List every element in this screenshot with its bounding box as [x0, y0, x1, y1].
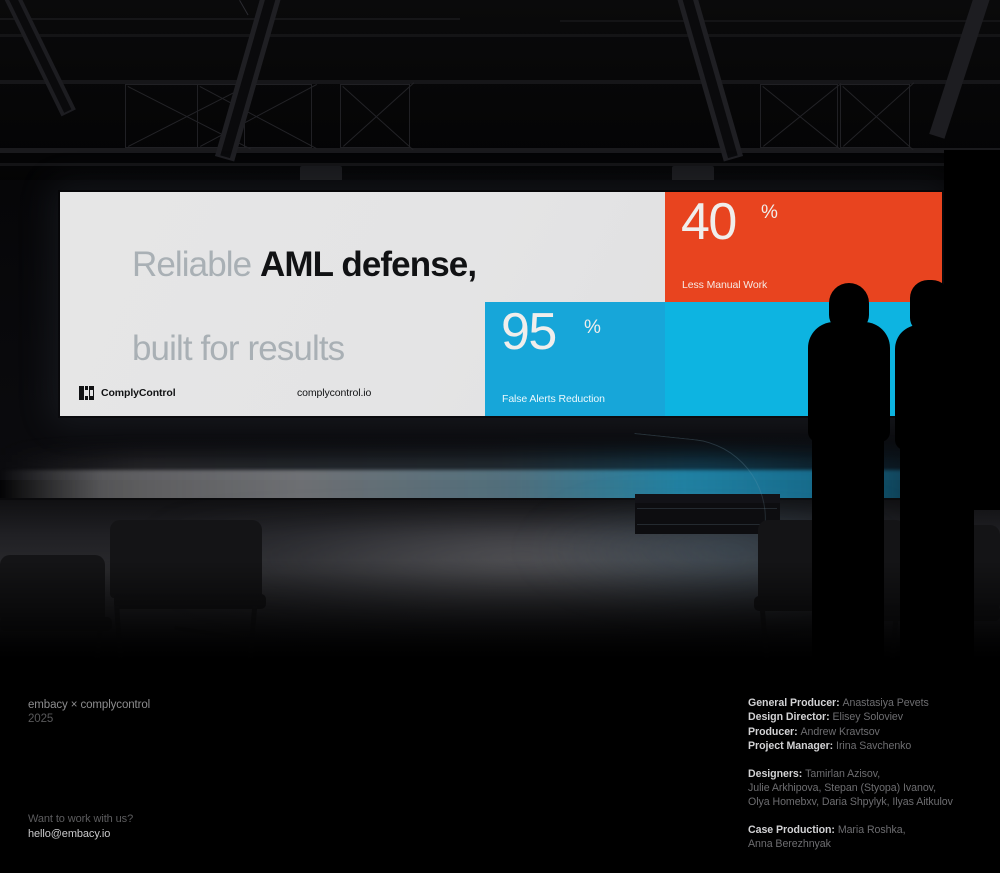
credit-people: Irina Savchenko: [836, 740, 911, 752]
credit-row: Case Production: Maria Roshka,: [748, 823, 988, 837]
headline-muted-2: built for results: [132, 329, 344, 368]
headline-bold: AML defense,: [260, 245, 476, 284]
brand-name: ComplyControl: [101, 387, 176, 399]
credit-role: Producer:: [748, 726, 800, 738]
credit-people: Andrew Kravtsov: [800, 726, 879, 738]
truss-icon: [0, 163, 1000, 166]
stat-unit-percent: %: [584, 317, 601, 339]
stat-value-40: 40: [681, 196, 736, 248]
credit-role: Case Production:: [748, 824, 838, 836]
slide-footer: ComplyControl complycontrol.io: [79, 386, 679, 404]
credits-list: General Producer: Anastasiya PevetsDesig…: [748, 696, 988, 852]
scene-bottom-fade: [0, 560, 1000, 660]
stat-tile-manual-work: 40 % Less Manual Work: [665, 192, 942, 302]
credit-row: Producer: Andrew Kravtsov: [748, 725, 988, 739]
credit-people: Anastasiya Pevets: [842, 697, 928, 709]
credit-row: Olya Homebxv, Daria Shpylyk, Ilyas Aitku…: [748, 795, 988, 809]
truss-icon: [0, 148, 1000, 153]
credit-role: Project Manager:: [748, 740, 836, 752]
credit-role: Designers:: [748, 768, 805, 780]
contact-block: Want to work with us? hello@embacy.io: [28, 812, 133, 842]
ceiling-truss-area: [0, 0, 1000, 190]
project-credit: embacy × complycontrol 2025: [28, 698, 150, 726]
contact-question: Want to work with us?: [28, 812, 133, 827]
truss-icon: [0, 34, 1000, 37]
credit-people: Maria Roshka,: [838, 824, 906, 836]
credit-row: Designers: Tamirlan Azisov,: [748, 767, 988, 781]
stat-value-95: 95: [501, 306, 556, 358]
brand-url: complycontrol.io: [297, 387, 371, 399]
credit-row: Anna Berezhnyak: [748, 837, 988, 851]
credit-people: Tamirlan Azisov,: [805, 768, 880, 780]
credit-role: General Producer:: [748, 697, 842, 709]
credit-row: General Producer: Anastasiya Pevets: [748, 696, 988, 710]
credit-people: Elisey Soloviev: [833, 711, 904, 723]
truss-icon: [560, 20, 1000, 22]
project-year: 2025: [28, 712, 150, 726]
truss-icon: [0, 18, 460, 20]
stat-caption-manual-work: Less Manual Work: [682, 279, 767, 291]
credit-people: Olya Homebxv, Daria Shpylyk, Ilyas Aitku…: [748, 796, 953, 808]
stat-unit-percent: %: [761, 202, 778, 224]
project-name: embacy × complycontrol: [28, 698, 150, 712]
credit-role: Design Director:: [748, 711, 833, 723]
truss-icon: [239, 0, 248, 15]
contact-email-link[interactable]: hello@embacy.io: [28, 827, 133, 842]
credit-row: Julie Arkhipova, Stepan (Styopa) Ivanov,: [748, 781, 988, 795]
complycontrol-logo-icon: [79, 386, 94, 400]
brand-lockup: ComplyControl: [79, 386, 176, 400]
headline-muted-1: Reliable: [132, 245, 260, 284]
studio-scene: Reliable AML defense, built for results …: [0, 0, 1000, 660]
credit-people: Anna Berezhnyak: [748, 838, 831, 850]
credit-row: Project Manager: Irina Savchenko: [748, 739, 988, 753]
credit-people: Julie Arkhipova, Stepan (Styopa) Ivanov,: [748, 782, 936, 794]
presentation-slide: Reliable AML defense, built for results …: [60, 192, 942, 416]
page-footer: embacy × complycontrol 2025 Want to work…: [0, 660, 1000, 873]
credit-row: Design Director: Elisey Soloviev: [748, 710, 988, 724]
stat-tile-cyan-fill: [665, 302, 942, 416]
